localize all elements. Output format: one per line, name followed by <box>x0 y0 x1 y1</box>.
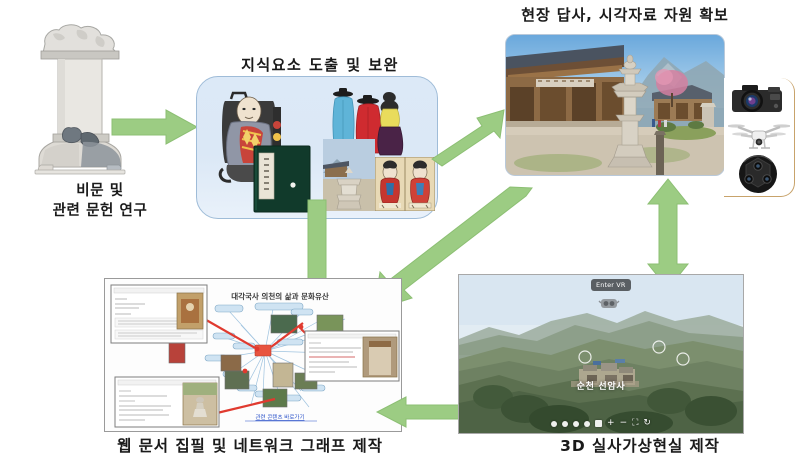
dot-1-icon[interactable] <box>551 421 557 427</box>
svg-text:대각국사 의천의 삶과 문화유산: 대각국사 의천의 삶과 문화유산 <box>231 291 329 301</box>
360-camera-icon <box>736 154 780 198</box>
quadcopter-drone-icon <box>728 118 790 158</box>
dot-2-icon[interactable] <box>562 421 568 427</box>
arrow-vr-to-webdoc <box>376 396 462 428</box>
diagram-canvas: 비문 및 관련 문헌 연구 지식요소 도출 및 보완 <box>0 0 800 465</box>
zoom-out-icon[interactable]: − <box>620 419 628 428</box>
korean-temple-courtyard-photo <box>505 34 725 176</box>
svg-text:관련 콘텐츠 바로가기: 관련 콘텐츠 바로가기 <box>255 413 304 421</box>
gallery-icon[interactable] <box>595 420 602 427</box>
capture-device-panel <box>724 78 795 197</box>
vr-toolbar[interactable]: + − ⛶ ↻ <box>551 419 651 428</box>
fieldwork-label: 현장 답사, 시각자료 자원 확보 <box>480 5 770 25</box>
knowledge-label: 지식요소 도출 및 보완 <box>190 55 450 75</box>
dot-3-icon[interactable] <box>573 421 579 427</box>
dslr-camera-icon <box>730 82 788 120</box>
zoom-in-icon[interactable]: + <box>607 419 615 428</box>
arrow-stele-to-knowledge <box>112 108 198 146</box>
webdoc-label: 웹 문서 집필 및 네트워크 그래프 제작 <box>80 436 420 457</box>
webdoc-screenshot[interactable]: 대각국사 의천의 삶과 문화유산 <box>104 278 402 432</box>
vr-panorama-screenshot[interactable]: Enter VR 순천 선암사 + − ⛶ ↻ <box>458 274 744 434</box>
reset-icon[interactable]: ↻ <box>643 419 651 428</box>
stone-stele-illustration <box>25 22 135 182</box>
arrow-knowledge-to-fieldwork <box>430 104 508 168</box>
vr-scene-caption: 순천 선암사 <box>459 379 743 392</box>
stele-label: 비문 및 관련 문헌 연구 <box>0 182 200 221</box>
fullscreen-icon[interactable]: ⛶ <box>632 419 638 428</box>
vr-label: 3D 실사가상현실 제작 <box>490 436 790 457</box>
enter-vr-button[interactable]: Enter VR <box>591 279 631 291</box>
dot-4-icon[interactable] <box>584 421 590 427</box>
